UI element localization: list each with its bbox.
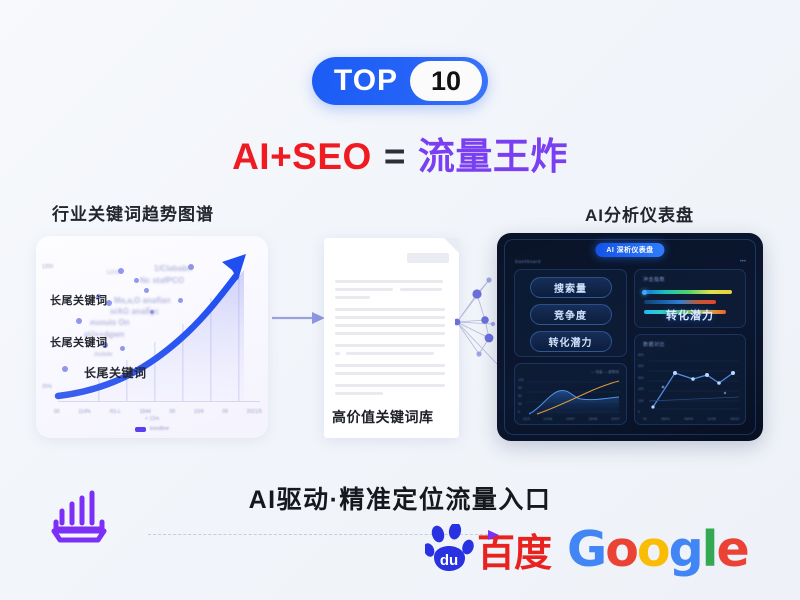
page-fold-corner — [444, 238, 459, 253]
baidu-du-text: du — [440, 552, 458, 569]
x-tick: 1844 — [140, 409, 151, 415]
wordcloud-term: o/AG anaIĪgc — [110, 307, 159, 316]
x-tick: 18/10 — [730, 417, 739, 421]
doc-text-line — [335, 332, 445, 335]
x-tick: 09 — [222, 409, 228, 415]
metric-pill-conversion[interactable]: 转化潜力 — [530, 331, 612, 352]
x-tick: 01 — [643, 417, 647, 421]
gradient-bar-knob[interactable] — [642, 290, 647, 295]
trend-chart-body: 1/Clababn Nc stafPCO Ma,a,O anafīan o/AG… — [36, 236, 268, 438]
data-comparison-panel: 数据对比 800 600 400 200 100 0 — [634, 334, 746, 425]
x-tick: 06/01 — [661, 417, 670, 421]
doc-text-line — [346, 352, 434, 355]
top-badge-label: TOP — [312, 64, 410, 98]
x-tick: 12/08 — [543, 417, 552, 421]
x-tick: 18/06 — [588, 417, 597, 421]
doc-text-line — [335, 296, 370, 299]
document-label: 高价值关键词库 — [332, 407, 434, 427]
caption-keyword-trend: 行业关键词趋势图谱 — [52, 200, 214, 225]
y-tick-label: 1200 — [42, 264, 53, 270]
metric-pill-competition[interactable]: 竞争度 — [530, 304, 612, 325]
gradient-bar — [644, 290, 732, 294]
headline-result: 流量王炸 — [418, 136, 568, 177]
wordcloud-term: euouio On — [90, 318, 130, 327]
doc-text-line — [335, 392, 383, 395]
traffic-area-chart-panel: — 流量 — 趋势线 120 90 60 30 0 11/4 — [514, 363, 627, 425]
doc-text-line — [335, 280, 443, 283]
doc-text-line — [335, 288, 393, 291]
tagline: AI驱动·精准定位流量入口 — [0, 480, 800, 516]
area-chart-x-axis: 11/4 12/08 14/07 18/06 20/07 — [523, 417, 620, 421]
keyword-library-document: 高价值关键词库 — [324, 238, 459, 438]
google-wordmark: Google — [567, 521, 748, 578]
keyword-trend-card: 1/Clababn Nc stafPCO Ma,a,O anafīan o/AG… — [36, 236, 268, 438]
keyword-label: 长尾关键词 — [50, 292, 108, 308]
x-tick: 08/04 — [684, 417, 693, 421]
x-tick: /01-L — [109, 409, 120, 415]
wordcloud-dot — [76, 318, 82, 324]
line-chart-x-axis: 01 06/01 08/04 11/06 18/10 — [643, 417, 739, 421]
keyword-label: 长尾关键词 — [84, 364, 147, 381]
google-letter-o2: o — [637, 521, 669, 578]
google-letter-g1: G — [567, 521, 605, 578]
page-title: AI+SEO=流量王炸 — [0, 126, 800, 180]
x-axis-title: + 12m — [36, 416, 268, 422]
google-letter-g2: g — [669, 521, 702, 578]
wordcloud-dot — [62, 366, 68, 372]
doc-bullet — [335, 352, 340, 355]
dashboard-menu-icon[interactable]: ••• — [740, 259, 746, 265]
wordcloud-term: 1/Clababn — [154, 264, 192, 273]
y-tick-label: 25% — [42, 384, 52, 390]
wordcloud-dot — [120, 346, 125, 351]
x-axis-ticks: 00 114% /01-L 1844 09 10/4 09 2021/5 — [54, 409, 262, 415]
wordcloud-term: Nc stafPCO — [140, 276, 184, 285]
wordcloud-dot — [134, 278, 139, 283]
x-axis-line — [58, 401, 260, 402]
top-rank-badge: TOP 10 — [312, 57, 488, 105]
dashed-line-arrow-icon — [487, 528, 501, 546]
x-tick: 2021/5 — [247, 409, 262, 415]
keyword-label: 长尾关键词 — [50, 334, 108, 350]
doc-text-line — [400, 288, 442, 291]
legend-label: trendline — [150, 426, 169, 432]
doc-header-chip — [407, 253, 449, 263]
x-tick: 11/4 — [523, 417, 530, 421]
gradient-bar — [644, 300, 716, 304]
google-letter-e: e — [716, 521, 747, 578]
doc-text-line — [335, 316, 445, 319]
wordcloud-term: Ma,a,O anafīan — [114, 296, 170, 305]
x-tick: 14/07 — [566, 417, 575, 421]
wordcloud-term: Achim — [94, 352, 112, 358]
x-tick: 11/06 — [707, 417, 716, 421]
doc-text-line — [335, 308, 445, 311]
dashboard-subtitle: Dashboard — [515, 259, 541, 264]
dashboard-title-badge: AI 深析仪表盘 — [595, 243, 664, 257]
x-tick: 10/4 — [194, 409, 204, 415]
top-badge-number: 10 — [410, 61, 482, 101]
x-tick: 09 — [170, 409, 176, 415]
doc-text-line — [335, 344, 445, 347]
wordcloud-dot — [144, 288, 149, 293]
analytics-bar-icon — [48, 485, 110, 552]
doc-text-line — [335, 384, 445, 387]
metric-pills-panel: 搜索量 竞争度 转化潜力 — [514, 269, 627, 357]
impact-index-title: 冲击指数 — [643, 276, 665, 283]
doc-text-line — [335, 372, 445, 375]
baidu-paw-icon: du — [425, 524, 479, 576]
headline-ai-seo: AI+SEO — [232, 136, 372, 177]
doc-text-line — [335, 364, 445, 367]
wordcloud-dot — [178, 298, 183, 303]
ai-analytics-dashboard: AI 深析仪表盘 Dashboard ••• 搜索量 竞争度 转化潜力 冲击指数… — [497, 233, 763, 441]
x-tick: 20/07 — [611, 417, 620, 421]
google-letter-l: l — [702, 521, 717, 578]
headline-equals: = — [372, 136, 418, 177]
line-chart-svg — [635, 335, 747, 426]
legend-swatch — [135, 427, 146, 432]
x-tick: 00 — [54, 409, 60, 415]
google-letter-o1: o — [605, 521, 637, 578]
flow-arrow-icon — [272, 310, 326, 331]
caption-ai-dashboard: AI分析仪表盘 — [585, 201, 694, 226]
conversion-potential-overlay: 转化潜力 — [635, 307, 745, 323]
impact-index-panel: 冲击指数 转化潜力 — [634, 269, 746, 328]
chart-legend: trendline — [36, 426, 268, 432]
metric-pill-search-volume[interactable]: 搜索量 — [530, 277, 612, 298]
x-tick: 114% — [78, 409, 90, 415]
search-engine-logos: du 百度 Google — [425, 521, 748, 578]
doc-text-line — [335, 324, 445, 327]
wordcloud-term: 1200 — [106, 270, 119, 276]
